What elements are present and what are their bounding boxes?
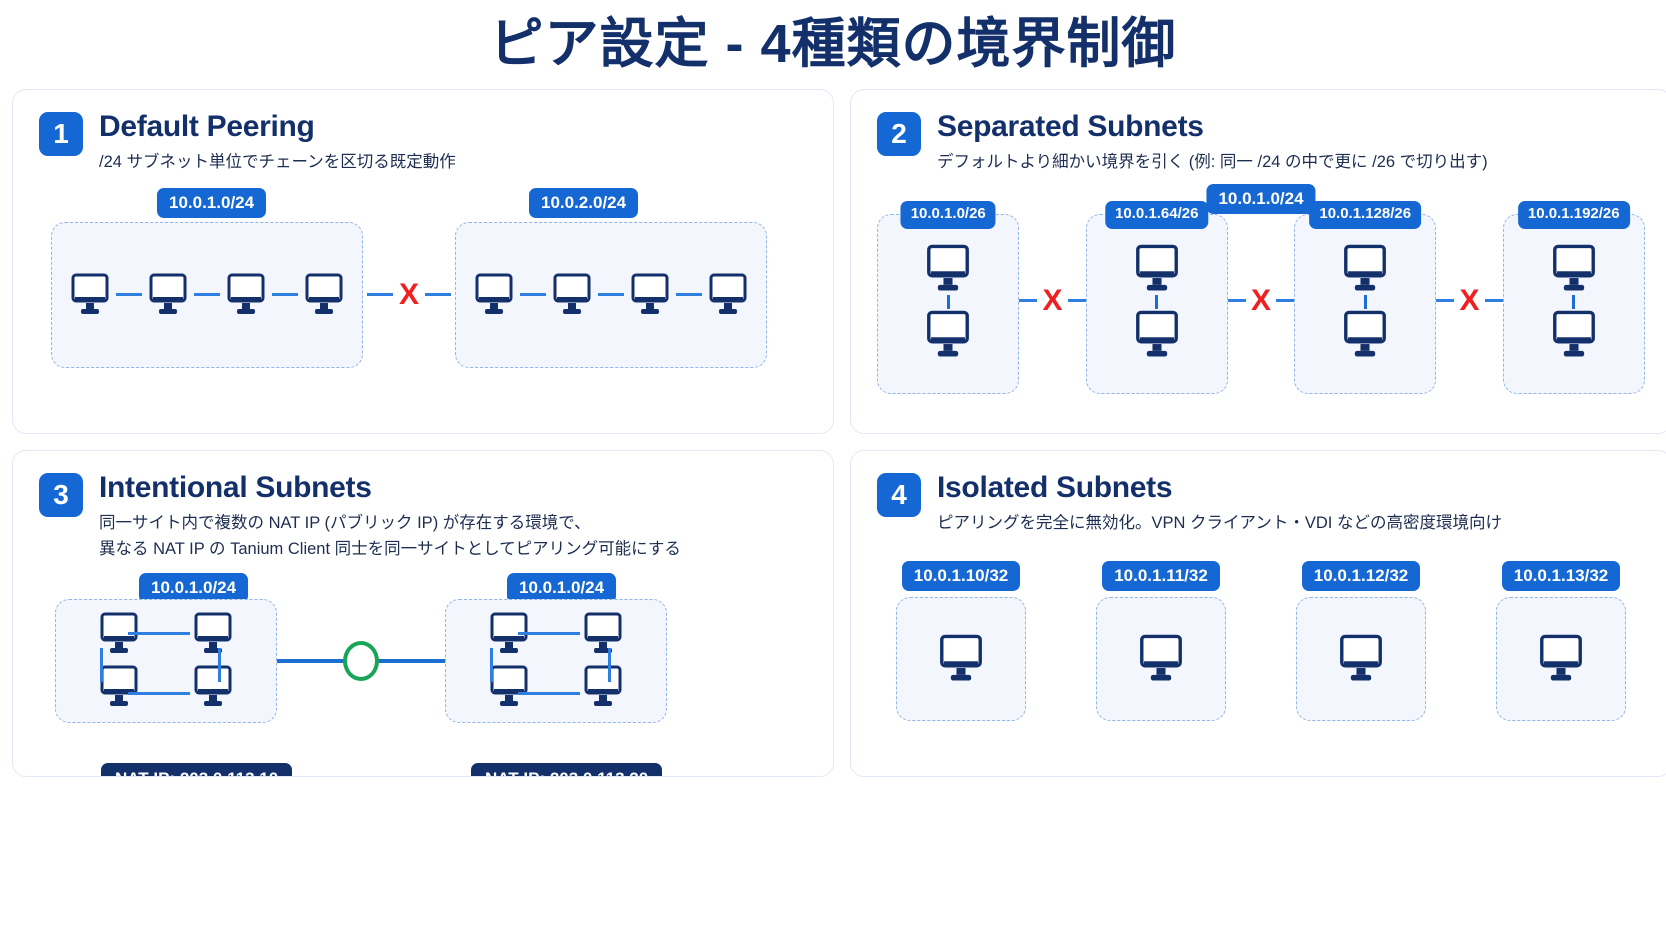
- cidr-tag: 10.0.1.12/32: [1302, 561, 1421, 591]
- isolated-cell: 10.0.1.13/32: [1483, 561, 1639, 721]
- isolated-box: [1296, 597, 1426, 721]
- host-stack: [1551, 243, 1597, 361]
- monitor-icon: [1134, 309, 1180, 361]
- panel-1-subnet-groups: X: [51, 222, 767, 368]
- monitor-icon: [708, 272, 748, 318]
- panel-3-header: 3 Intentional Subnets 同一サイト内で複数の NAT IP …: [39, 471, 807, 563]
- monitor-icon: [1551, 243, 1597, 295]
- nat-ip-tag: NAT IP: 203.0.113.10: [101, 763, 292, 777]
- monitor-icon: [99, 664, 139, 710]
- panel-2-block-separator: X: [1228, 286, 1294, 322]
- cidr-tag: 10.0.1.64/26: [1105, 201, 1208, 229]
- panel-1-subtitle: /24 サブネット単位でチェーンを区切る既定動作: [99, 150, 456, 176]
- monitor-icon: [925, 243, 971, 295]
- monitor-icon: [1342, 243, 1388, 295]
- link-line: [218, 648, 221, 682]
- panel-2-diagram: 10.0.1.0/24 10.0.1.0/26 X: [877, 184, 1645, 419]
- isolated-cell: 10.0.1.10/32: [883, 561, 1039, 721]
- link-dash: [1485, 299, 1503, 302]
- link-dash: [367, 293, 393, 296]
- cidr-tag: 10.0.1.0/26: [901, 201, 996, 229]
- panel-grid: 1 Default Peering /24 サブネット単位でチェーンを区切る既定…: [0, 77, 1666, 777]
- peering-allowed-circle-icon: [343, 641, 379, 681]
- link-dash: [1436, 299, 1454, 302]
- subnet-group-1: [51, 222, 363, 368]
- blocked-x-icon: X: [1459, 286, 1479, 316]
- panel-2-header: 2 Separated Subnets デフォルトより細かい境界を引く (例: …: [877, 110, 1645, 176]
- subnet-cell: 10.0.1.0/26: [877, 214, 1019, 394]
- panel-3-site-row: [55, 599, 667, 723]
- cidr-tag: 10.0.1.128/26: [1309, 201, 1421, 229]
- link-line: [947, 295, 950, 309]
- isolated-cell: 10.0.1.11/32: [1083, 561, 1239, 721]
- monitor-icon: [583, 664, 623, 710]
- link-line: [128, 632, 190, 635]
- panel-3-number-badge: 3: [39, 473, 83, 517]
- panel-3-diagram: 10.0.1.0/24 10.0.1.0/24: [39, 573, 807, 777]
- monitor-icon: [193, 611, 233, 657]
- monitor-icon: [1138, 633, 1184, 685]
- link-dash: [1228, 299, 1246, 302]
- monitor-icon: [70, 272, 110, 318]
- panel-3-peer-connector: [277, 599, 445, 723]
- cidr-tag: 10.0.1.10/32: [902, 561, 1021, 591]
- panel-4-title: Isolated Subnets: [937, 471, 1502, 505]
- host-stack: [925, 243, 971, 361]
- link-line: [1364, 295, 1367, 309]
- monitor-icon: [1134, 243, 1180, 295]
- link-dash: [194, 293, 220, 296]
- cidr-tag: 10.0.1.192/26: [1518, 201, 1630, 229]
- panel-3-subtitle: 同一サイト内で複数の NAT IP (パブリック IP) が存在する環境で、 異…: [99, 511, 681, 562]
- monitor-icon: [552, 272, 592, 318]
- panel-intentional-subnets: 3 Intentional Subnets 同一サイト内で複数の NAT IP …: [12, 450, 834, 777]
- monitor-icon: [193, 664, 233, 710]
- monitor-icon: [925, 309, 971, 361]
- panel-1-title: Default Peering: [99, 110, 456, 144]
- link-line: [518, 692, 580, 695]
- panel-2-title: Separated Subnets: [937, 110, 1488, 144]
- site-group-2: [445, 599, 667, 723]
- link-dash: [1019, 299, 1037, 302]
- monitor-icon: [630, 272, 670, 318]
- monitor-icon: [1551, 309, 1597, 361]
- link-dash: [676, 293, 702, 296]
- link-dash: [272, 293, 298, 296]
- link-line: [608, 648, 611, 682]
- link-line: [1572, 295, 1575, 309]
- link-dash: [116, 293, 142, 296]
- blocked-x-icon: X: [399, 280, 419, 310]
- monitor-icon: [226, 272, 266, 318]
- panel-1-diagram: 10.0.1.0/24 10.0.2.0/24 X: [39, 188, 807, 413]
- monitor-icon: [304, 272, 344, 318]
- link-dash: [1068, 299, 1086, 302]
- page-title: ピア設定 - 4種類の境界制御: [0, 0, 1666, 77]
- cidr-tag: 10.0.1.13/32: [1502, 561, 1621, 591]
- cidr-tag: 10.0.2.0/24: [529, 188, 638, 218]
- panel-default-peering: 1 Default Peering /24 サブネット単位でチェーンを区切る既定…: [12, 89, 834, 434]
- panel-4-diagram: 10.0.1.10/32 10.0.1.11/32 10.0.1.12/32: [877, 561, 1645, 751]
- blocked-x-icon: X: [1251, 286, 1271, 316]
- link-line: [100, 648, 103, 682]
- subnet-cell: 10.0.1.64/26: [1086, 214, 1228, 394]
- blocked-x-icon: X: [1042, 286, 1062, 316]
- link-line: [518, 632, 580, 635]
- panel-2-block-separator: X: [1436, 286, 1502, 322]
- panel-3-subtitle-line-2: 異なる NAT IP の Tanium Client 同士を同一サイトとしてピア…: [99, 537, 681, 563]
- monitor-icon: [489, 664, 529, 710]
- link-line: [490, 648, 493, 682]
- panel-2-block-separator: X: [1019, 286, 1085, 322]
- infographic-page: ピア設定 - 4種類の境界制御 1 Default Peering /24 サブ…: [0, 0, 1666, 944]
- link-dash: [1276, 299, 1294, 302]
- panel-1-number-badge: 1: [39, 112, 83, 156]
- link-dash: [520, 293, 546, 296]
- panel-isolated-subnets: 4 Isolated Subnets ピアリングを完全に無効化。VPN クライア…: [850, 450, 1666, 777]
- link-line: [1155, 295, 1158, 309]
- supernet-cidr-tag: 10.0.1.0/24: [1206, 184, 1315, 214]
- panel-4-subtitle: ピアリングを完全に無効化。VPN クライアント・VDI などの高密度環境向け: [937, 511, 1502, 537]
- panel-2-subtitle: デフォルトより細かい境界を引く (例: 同一 /24 の中で更に /26 で切り…: [937, 150, 1488, 176]
- cidr-tag: 10.0.1.0/24: [157, 188, 266, 218]
- panel-separated-subnets: 2 Separated Subnets デフォルトより細かい境界を引く (例: …: [850, 89, 1666, 434]
- panel-2-number-badge: 2: [877, 112, 921, 156]
- subnet-group-2: [455, 222, 767, 368]
- panel-4-isolated-row: 10.0.1.10/32 10.0.1.11/32 10.0.1.12/32: [877, 561, 1645, 721]
- monitor-icon: [1342, 309, 1388, 361]
- subnet-cell: 10.0.1.128/26: [1294, 214, 1436, 394]
- panel-1-block-separator: X: [363, 280, 455, 310]
- monitor-icon: [938, 633, 984, 685]
- subnet-cell: 10.0.1.192/26: [1503, 214, 1645, 394]
- host-stack: [1342, 243, 1388, 361]
- link-line: [128, 692, 190, 695]
- isolated-box: [1096, 597, 1226, 721]
- cidr-tag: 10.0.1.11/32: [1102, 561, 1220, 591]
- link-dash: [425, 293, 451, 296]
- panel-4-header: 4 Isolated Subnets ピアリングを完全に無効化。VPN クライア…: [877, 471, 1645, 537]
- panel-3-title: Intentional Subnets: [99, 471, 681, 505]
- isolated-box: [1496, 597, 1626, 721]
- monitor-icon: [1538, 633, 1584, 685]
- site-group-1: [55, 599, 277, 723]
- host-stack: [1134, 243, 1180, 361]
- link-dash: [598, 293, 624, 296]
- monitor-icon: [583, 611, 623, 657]
- monitor-icon: [474, 272, 514, 318]
- monitor-icon: [148, 272, 188, 318]
- isolated-cell: 10.0.1.12/32: [1283, 561, 1439, 721]
- isolated-box: [896, 597, 1026, 721]
- monitor-icon: [1338, 633, 1384, 685]
- panel-3-subtitle-line-1: 同一サイト内で複数の NAT IP (パブリック IP) が存在する環境で、: [99, 514, 591, 532]
- panel-2-subnet-row: 10.0.1.0/26 X 10.0.1.64/26: [877, 214, 1645, 394]
- nat-ip-tag: NAT IP: 203.0.113.20: [471, 763, 662, 777]
- panel-4-number-badge: 4: [877, 473, 921, 517]
- panel-1-header: 1 Default Peering /24 サブネット単位でチェーンを区切る既定…: [39, 110, 807, 176]
